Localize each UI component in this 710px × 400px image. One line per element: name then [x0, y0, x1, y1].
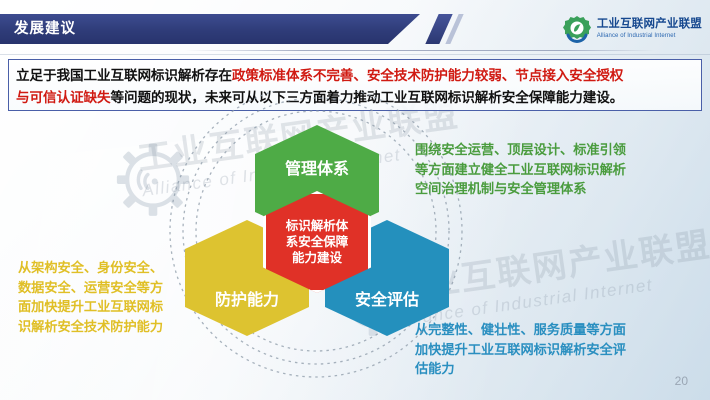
- alliance-logo-en: Alliance of Industrial Internet: [597, 33, 702, 39]
- header-underline: [0, 54, 710, 55]
- intro-plain-b: 等问题的现状，未来可从以下三方面着力推动工业互联网标识解析安全保障能力建设。: [110, 90, 623, 105]
- alliance-logo-text: 工业互联网产业联盟 Alliance of Industrial Interne…: [597, 19, 702, 39]
- hex-center-text: 标识解析体 系安全保障 能力建设: [286, 218, 349, 266]
- page-number: 20: [675, 374, 688, 388]
- page-title: 发展建议: [14, 19, 76, 39]
- hexagon-diagram: 管理体系 防护能力 安全评估 标识解析体 系安全保障 能力建设: [175, 125, 455, 340]
- intro-line-1: 立足于我国工业互联网标识解析存在政策标准体系不完善、安全技术防护能力较弱、节点接…: [16, 65, 695, 87]
- callout-management-system: 围绕安全运营、顶层设计、标准引领 等方面建立健全工业互联网标识解析 空间治理机制…: [415, 140, 705, 199]
- intro-highlight-b: 与可信认证缺失: [16, 90, 110, 105]
- header-divider: [185, 50, 655, 51]
- alliance-logo: 工业互联网产业联盟 Alliance of Industrial Interne…: [562, 14, 702, 44]
- intro-plain-a: 立足于我国工业互联网标识解析存在: [16, 68, 232, 83]
- slide: 工业互联网产业联盟 Alliance of Industrial Interne…: [0, 0, 710, 400]
- hex-center-line-3: 能力建设: [286, 250, 349, 266]
- alliance-gear-leaf-icon: [562, 14, 592, 44]
- intro-highlight-a: 政策标准体系不完善、安全技术防护能力较弱、节点接入安全授权: [232, 68, 623, 83]
- alliance-logo-cn: 工业互联网产业联盟: [597, 19, 702, 31]
- intro-line-2: 与可信认证缺失等问题的现状，未来可从以下三方面着力推动工业互联网标识解析安全保障…: [16, 87, 695, 109]
- callout-security-assessment: 从完整性、健壮性、服务质量等方面 加快提升工业互联网标识解析安全评 估能力: [415, 320, 705, 379]
- slide-header: 发展建议 工业互联网产业联盟 Alliance of Industrial In…: [0, 0, 710, 56]
- hex-center-line-2: 系安全保障: [286, 234, 349, 250]
- intro-textbox: 立足于我国工业互联网标识解析存在政策标准体系不完善、安全技术防护能力较弱、节点接…: [8, 59, 702, 111]
- hex-center-line-1: 标识解析体: [286, 218, 349, 234]
